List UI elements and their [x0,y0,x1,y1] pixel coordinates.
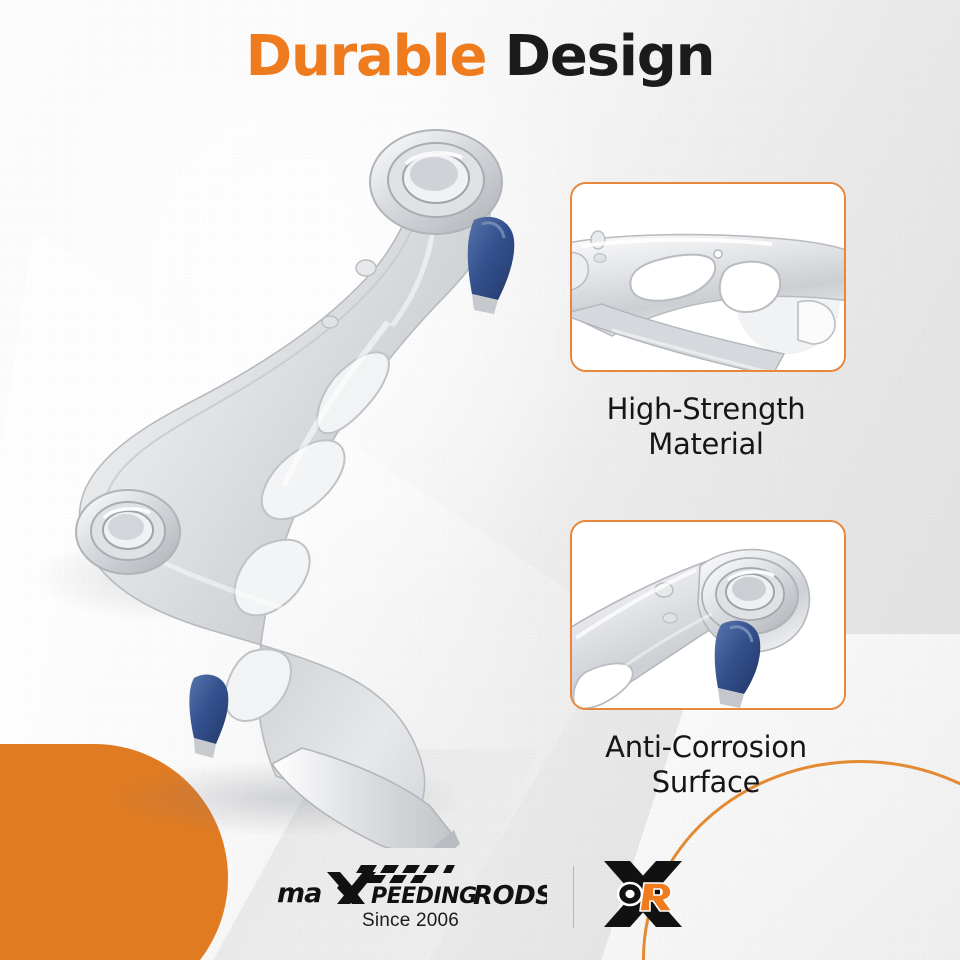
feature-caption: High-Strength Material [570,392,842,462]
maxpeedingrods-logo: ma PEEDING RODS Since 2006 [275,862,547,932]
feature-caption-line1: Anti-Corrosion [570,730,842,765]
svg-text:RODS: RODS [473,881,547,908]
feature-image-card [570,520,846,710]
feature-caption-line2: Surface [570,765,842,800]
page-title: Durable Design [0,26,960,88]
footer-branding: ma PEEDING RODS Since 2006 [0,857,960,936]
feature-caption: Anti-Corrosion Surface [570,730,842,800]
page-title-highlight: Durable [246,24,487,89]
feature-card-high-strength-material[interactable]: High-Strength Material [570,182,842,462]
brand-tagline: Since 2006 [275,910,547,932]
svg-text:PEEDING: PEEDING [371,884,477,908]
feature-image-card [570,182,846,372]
product-poster: Durable Design [0,0,960,960]
secondary-brand-logo [600,857,686,936]
feature-card-anti-corrosion-surface[interactable]: Anti-Corrosion Surface [570,520,842,800]
footer-divider [573,866,574,928]
page-title-rest: Design [505,24,715,89]
svg-text:ma: ma [277,878,321,908]
feature-caption-line2: Material [570,427,842,462]
feature-caption-line1: High-Strength [570,392,842,427]
hero-product-image [36,108,556,848]
